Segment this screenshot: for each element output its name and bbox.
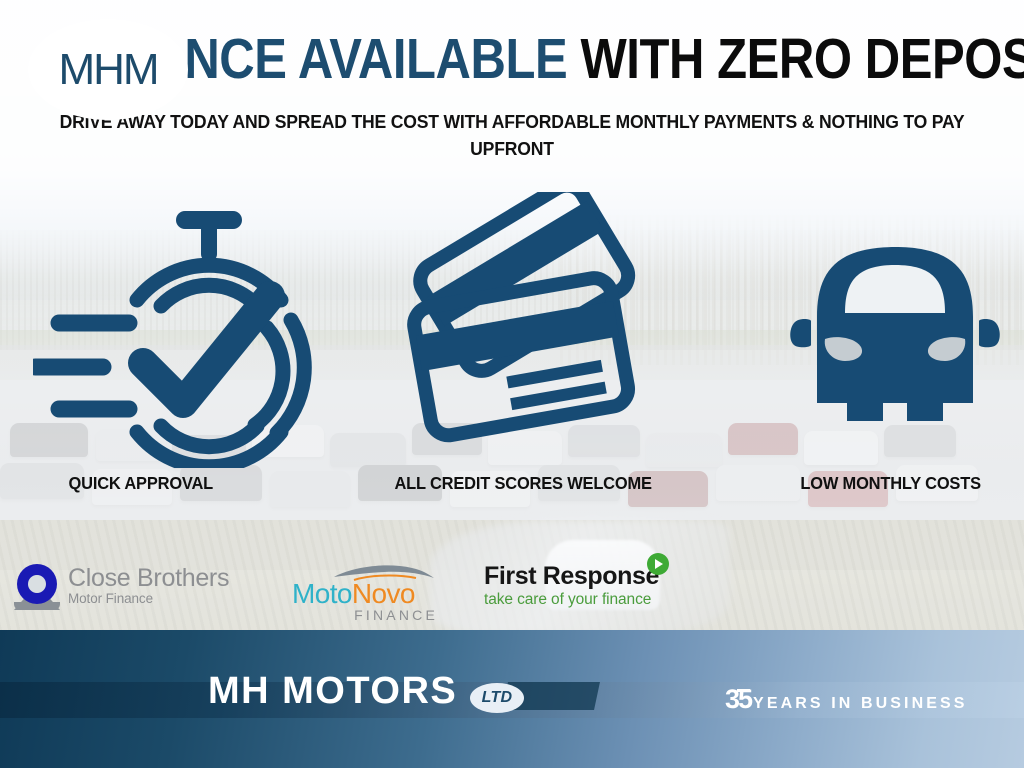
feature-label: LOW MONTHLY COSTS [801,473,982,494]
feature-label: ALL CREDIT SCORES WELCOME [395,473,652,494]
headline: FINANCE AVAILABLE WITH ZERO DEPOSIT [72,28,953,90]
motonovo-name-part2: Novo [352,578,415,609]
motonovo-car-swoosh-icon [330,564,440,580]
feature-all-credit-scores: ALL CREDIT SCORES WELCOME [341,195,682,525]
feature-row: QUICK APPROVAL [0,195,1024,525]
mhm-logo-badge: MHM [28,19,188,120]
feature-label: QUICK APPROVAL [68,473,213,494]
first-response-tagline: take care of your finance [484,590,659,610]
lender-logo-row: Close Brothers Motor Finance MotoNovo FI… [0,556,1024,630]
motonovo-name: MotoNovo [292,580,440,608]
play-circle-icon [647,553,669,575]
ltd-badge: LTD [470,683,524,713]
first-response-name: First Response [484,562,659,590]
finance-promo-poster: FINANCE AVAILABLE WITH ZERO DEPOSIT DRIV… [0,0,1024,768]
stopwatch-check-icon [33,195,333,473]
lender-logo-close-brothers: Close Brothers Motor Finance [14,562,229,610]
feature-quick-approval: QUICK APPROVAL [0,195,341,525]
close-brothers-mark-icon [14,562,60,610]
feature-low-monthly-costs: LOW MONTHLY COSTS [683,195,1024,525]
close-brothers-name: Close Brothers [68,566,229,591]
years-number: 35 [725,686,751,713]
motonovo-tagline: FINANCE [292,607,440,623]
lender-logo-first-response: First Response take care of your finance [484,562,659,610]
car-front-icon [775,203,1015,481]
close-brothers-tagline: Motor Finance [68,591,229,607]
lender-logo-motonovo: MotoNovo FINANCE [292,564,440,623]
ltd-badge-label: LTD [482,689,513,707]
credit-cards-icon [400,189,668,467]
brand-name: MH MOTORS [208,672,457,710]
years-label: YEARS IN BUSINESS [753,695,968,713]
motonovo-name-part1: Moto [292,578,352,609]
headline-part-b: WITH ZERO DEPOSIT [580,27,1024,91]
years-in-business: 35 YEARS IN BUSINESS [725,686,968,713]
subheadline: DRIVE AWAY TODAY AND SPREAD THE COST WIT… [47,108,978,162]
mhm-monogram: MHM [58,45,157,95]
